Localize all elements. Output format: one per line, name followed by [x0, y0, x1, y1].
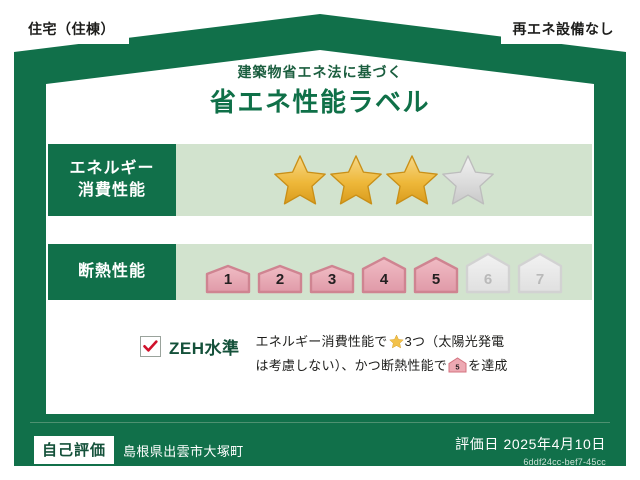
- insulation-level-4: 4: [360, 256, 408, 294]
- zeh-badge: ZEH水準: [48, 330, 240, 359]
- inline-star-icon: [389, 334, 404, 355]
- energy-performance-label: エネルギー 消費性能: [48, 144, 176, 216]
- insulation-level-3: 3: [308, 264, 356, 294]
- insulation-performance-row: 断熱性能 1234567: [48, 244, 592, 300]
- house-filled-icon: [413, 256, 459, 294]
- zeh-checkbox[interactable]: [140, 336, 161, 357]
- footer-divider: [30, 422, 610, 423]
- footer-right: 評価日 2025年4月10日 6ddf24cc-bef7-45cc: [455, 434, 606, 467]
- zeh-desc-star-count: 3つ（太陽光発電: [405, 334, 505, 349]
- energy-label-line-2: 消費性能: [78, 180, 146, 202]
- insulation-level-5: 5: [412, 256, 460, 294]
- house-filled-icon: [309, 264, 355, 294]
- insulation-level-6: 6: [464, 252, 512, 294]
- zeh-desc-line2-pre: は考慮しない）、かつ断熱性能で: [256, 358, 448, 373]
- evaluation-date-label: 評価日: [455, 436, 499, 452]
- tab-renewable-status-label: 再エネ設備なし: [513, 19, 615, 39]
- house-empty-icon: [517, 252, 563, 294]
- insulation-level-7: 7: [516, 252, 564, 294]
- insulation-level-scale: 1234567: [176, 244, 592, 300]
- house-filled-icon: [361, 256, 407, 294]
- star-empty-icon: [441, 153, 495, 207]
- title-block: 建築物省エネ法に基づく 省エネ性能ラベル: [0, 64, 640, 118]
- zeh-desc-line2-post: を達成: [468, 358, 508, 373]
- energy-label-line-1: エネルギー: [69, 158, 154, 180]
- footer-left: 自己評価 島根県出雲市大塚町: [34, 436, 244, 464]
- address-text: 島根県出雲市大塚町: [123, 441, 244, 460]
- energy-performance-label: 住宅（住棟） 再エネ設備なし 建築物省エネ法に基づく 省エネ性能ラベル エネルギ…: [0, 0, 640, 480]
- zeh-title: ZEH水準: [169, 334, 240, 359]
- evaluation-date-value: 2025年4月10日: [503, 436, 606, 452]
- star-filled-icon: [329, 153, 383, 207]
- tab-building-type: 住宅（住棟）: [14, 14, 129, 44]
- insulation-label-text: 断熱性能: [78, 261, 146, 283]
- inline-house-icon: 5: [448, 357, 467, 379]
- house-filled-icon: [205, 264, 251, 294]
- self-evaluation-badge: 自己評価: [34, 436, 114, 464]
- tab-building-type-label: 住宅（住棟）: [28, 19, 115, 39]
- tab-renewable-status: 再エネ設備なし: [501, 14, 627, 44]
- zeh-section: ZEH水準 エネルギー消費性能で 3つ（太陽光発電は考慮しない）、かつ断熱性能で…: [48, 330, 592, 379]
- star-filled-icon: [273, 153, 327, 207]
- zeh-desc-part1: エネルギー消費性能で: [256, 334, 388, 349]
- zeh-description: エネルギー消費性能で 3つ（太陽光発電は考慮しない）、かつ断熱性能で 5 を達成: [240, 330, 593, 379]
- house-filled-icon: [257, 264, 303, 294]
- label-subtitle: 建築物省エネ法に基づく: [0, 64, 640, 81]
- insulation-level-2: 2: [256, 264, 304, 294]
- svg-text:5: 5: [455, 363, 459, 372]
- house-empty-icon: [465, 252, 511, 294]
- evaluation-date: 評価日 2025年4月10日: [455, 434, 606, 454]
- insulation-level-1: 1: [204, 264, 252, 294]
- insulation-performance-label: 断熱性能: [48, 244, 176, 300]
- check-icon: [143, 340, 158, 353]
- document-code: 6ddf24cc-bef7-45cc: [455, 457, 606, 467]
- star-filled-icon: [385, 153, 439, 207]
- footer: 自己評価 島根県出雲市大塚町 評価日 2025年4月10日 6ddf24cc-b…: [0, 422, 640, 480]
- page-title: 省エネ性能ラベル: [0, 87, 640, 118]
- star-rating: [176, 144, 592, 216]
- energy-performance-row: エネルギー 消費性能: [48, 144, 592, 216]
